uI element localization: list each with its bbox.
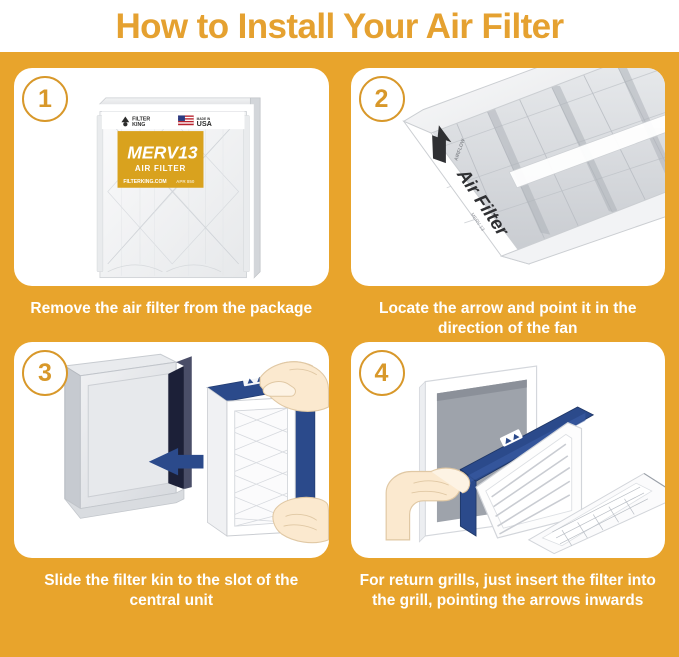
- svg-text:APR 850: APR 850: [176, 179, 195, 184]
- step-4-number: 4: [375, 361, 389, 386]
- step-4-panel: 4: [351, 342, 666, 558]
- step-3-badge: 3: [22, 350, 68, 396]
- svg-text:AIR FILTER: AIR FILTER: [135, 164, 186, 173]
- steps-grid: FILTER KING: [0, 52, 679, 657]
- step-3-number: 3: [38, 361, 52, 386]
- svg-text:USA: USA: [197, 119, 213, 128]
- step-4-badge: 4: [359, 350, 405, 396]
- page-title: How to Install Your Air Filter: [115, 9, 563, 44]
- step-4: 4 For return grills, just insert the fil…: [351, 342, 666, 649]
- step-1-panel: FILTER KING: [14, 68, 329, 286]
- step-1-caption: Remove the air filter from the package: [14, 299, 329, 319]
- step-3-panel: 3: [14, 342, 329, 558]
- infographic-root: How to Install Your Air Filter: [0, 0, 679, 657]
- step-3: 3 Slide the filter kin to the slot of th…: [14, 342, 329, 649]
- step-2-badge: 2: [359, 76, 405, 122]
- svg-text:MERV13: MERV13: [127, 142, 198, 162]
- step-1: FILTER KING: [14, 68, 329, 336]
- step-1-number: 1: [38, 87, 52, 112]
- step-2: AIRFLOW Air Filter MERV 13 2 Locat: [351, 68, 666, 336]
- svg-text:FILTERKING.COM: FILTERKING.COM: [123, 179, 166, 185]
- svg-text:KING: KING: [132, 122, 145, 128]
- step-4-caption: For return grills, just insert the filte…: [351, 571, 666, 612]
- header: How to Install Your Air Filter: [0, 0, 679, 52]
- step-1-badge: 1: [22, 76, 68, 122]
- step-3-caption: Slide the filter kin to the slot of the …: [14, 571, 329, 612]
- step-2-panel: AIRFLOW Air Filter MERV 13 2: [351, 68, 666, 286]
- step-2-number: 2: [375, 87, 389, 112]
- step-2-caption: Locate the arrow and point it in the dir…: [351, 299, 666, 340]
